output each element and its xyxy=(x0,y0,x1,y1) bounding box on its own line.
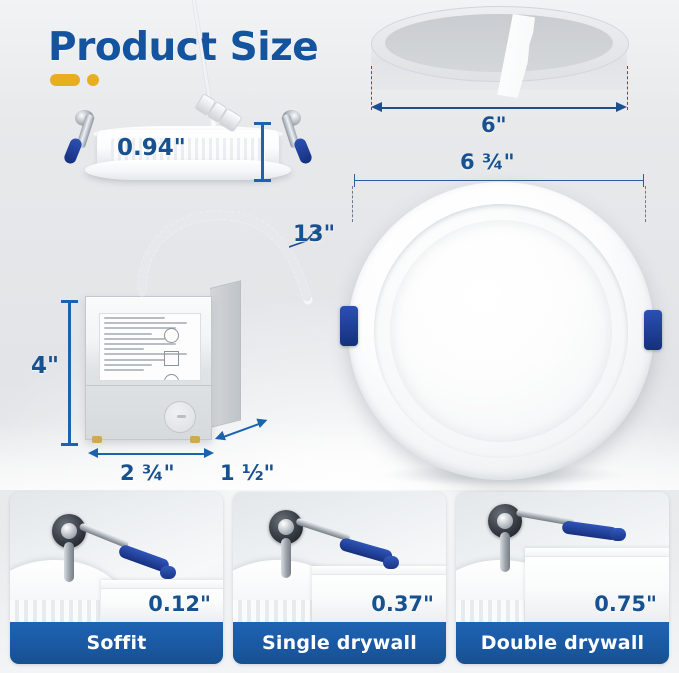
dimension-label-jbox-depth: 1 ½" xyxy=(220,461,275,485)
dimension-line-jbox-width xyxy=(88,452,214,455)
fixture-diffuser-lens xyxy=(390,220,612,442)
jbox-lid-seam xyxy=(86,385,211,386)
energy-mark-icon xyxy=(164,374,179,381)
dimension-line-jbox-height xyxy=(68,300,71,446)
profile-spring-clip-left xyxy=(67,110,119,166)
fixture-side-profile xyxy=(55,108,320,188)
dimension-label-cutout-diameter: 6" xyxy=(481,113,507,137)
dimension-label-profile-height: 0.94" xyxy=(117,135,186,161)
spring-clip-assembly xyxy=(52,514,182,604)
witness-line-6-right xyxy=(627,66,628,110)
panel-measurement: 0.37" xyxy=(371,592,434,616)
flexible-conduit xyxy=(120,200,350,340)
dimension-bar xyxy=(354,180,644,181)
jbox-foot-right xyxy=(190,436,200,443)
dimension-label-jbox-height: 4" xyxy=(31,353,59,379)
conduit-path xyxy=(120,200,350,340)
accent-dot xyxy=(87,74,99,86)
panel-single-drywall[interactable]: 0.37" Single drywall xyxy=(233,492,446,664)
panel-caption: Double drywall xyxy=(456,622,669,664)
page-title: Product Size xyxy=(48,28,318,67)
jbox-foot-left xyxy=(92,436,102,443)
dimension-bar xyxy=(94,453,208,455)
clip-blue-grip xyxy=(63,137,84,166)
clip-blue-grip xyxy=(293,137,314,166)
panel-double-drywall[interactable]: 0.75" Double drywall xyxy=(456,492,669,664)
clip-hook xyxy=(281,538,291,578)
dimension-line-profile-height xyxy=(261,122,264,182)
clip-blue-tip xyxy=(610,528,626,541)
fcc-mark-icon xyxy=(164,351,179,366)
clip-blue-tip xyxy=(160,566,176,579)
title-accent-marks xyxy=(50,74,99,86)
dimension-bar xyxy=(381,107,617,109)
clip-hook xyxy=(64,542,74,582)
ceiling-cutout-illustration xyxy=(371,6,627,102)
accent-pill xyxy=(50,74,80,86)
panel-soffit[interactable]: 0.12" Soffit xyxy=(10,492,223,664)
profile-spring-clip-right xyxy=(257,110,309,166)
panel-measurement: 0.12" xyxy=(148,592,211,616)
fixture-spring-clip-right xyxy=(644,310,662,350)
dimension-label-trim-diameter: 6 ¾" xyxy=(460,150,515,174)
product-size-infographic: Product Size 6" 6 ¾" xyxy=(0,0,679,673)
clip-rod xyxy=(79,523,130,549)
arrow-right-icon xyxy=(204,448,214,458)
recessed-downlight-fixture xyxy=(348,182,654,480)
panel-caption: Soffit xyxy=(10,622,223,664)
clip-blue-tip xyxy=(383,556,399,569)
dimension-label-cable-length: 13" xyxy=(293,222,335,247)
panel-caption: Single drywall xyxy=(233,622,446,664)
dimension-line-cutout-diameter xyxy=(371,106,627,110)
dimension-label-jbox-width: 2 ¾" xyxy=(120,461,175,485)
panel-measurement: 0.75" xyxy=(594,592,657,616)
installation-panels: 0.12" Soffit 0.37" Single drywall xyxy=(10,492,669,664)
jbox-knockout-icon xyxy=(164,401,196,433)
arrow-right-icon xyxy=(616,102,627,112)
cutout-inner-hole xyxy=(385,14,613,72)
fixture-spring-clip-left xyxy=(340,306,358,346)
clip-hook xyxy=(500,532,510,572)
spring-clip-assembly xyxy=(488,504,638,600)
